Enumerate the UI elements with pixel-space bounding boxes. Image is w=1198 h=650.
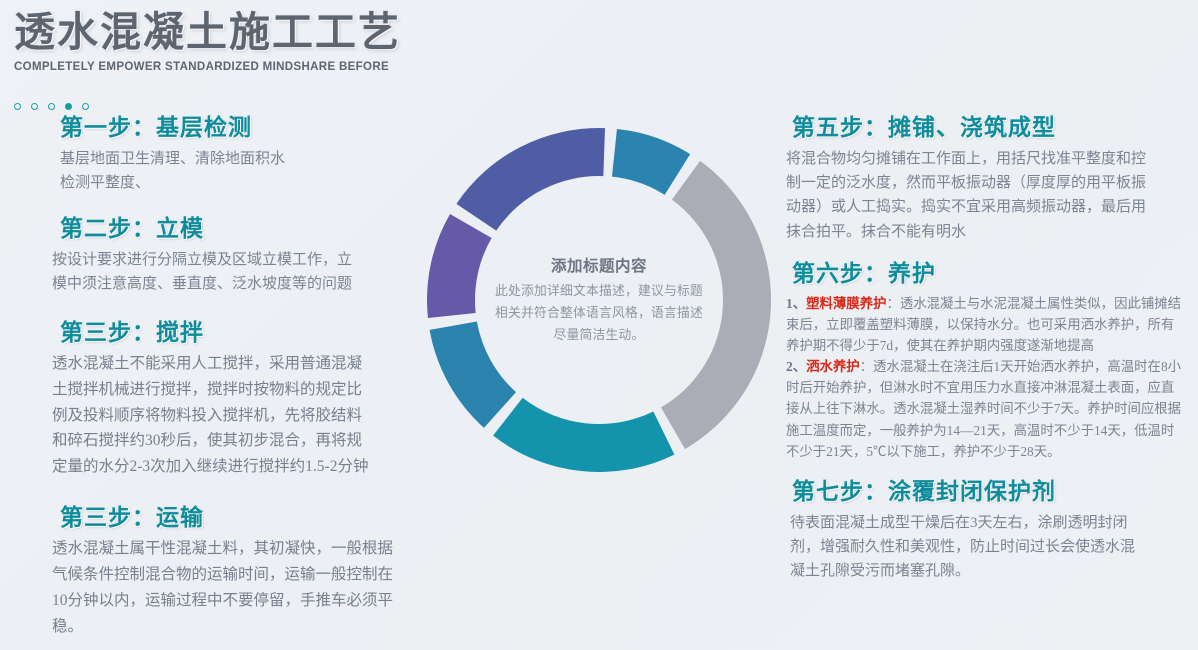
right-column: 第五步：摊铺、浇筑成型 将混合物均匀摊铺在工作面上，用括尺找准平整度和控 制一定… [786,112,1186,583]
step-7-line-3: 凝土孔隙受污而堵塞孔隙。 [790,559,1186,583]
step-6-item-2-number: 2、 [786,359,806,374]
step-6-heading: 第六步：养护 [786,258,1186,291]
step-7-heading: 第七步：涂覆封闭保护剂 [786,476,1186,509]
step-3-line-2: 土搅拌机械进行搅拌，搅拌时按物料的规定比 [52,377,427,403]
step-7-body: 待表面混凝土成型干燥后在3天左右，涂刷透明封闭 剂，增强耐久性和美观性，防止时间… [786,511,1186,584]
step-6-item-1: 1、塑料薄膜养护：透水混凝土与水泥混凝土属性类似，因此铺摊结束后，立即覆盖塑料薄… [786,293,1186,357]
step-5-heading: 第五步：摊铺、浇筑成型 [786,112,1186,145]
page-title: 透水混凝土施工工艺 [14,8,654,56]
donut-title: 添加标题内容 [493,254,705,276]
step-block-6: 第六步：养护 1、塑料薄膜养护：透水混凝土与水泥混凝土属性类似，因此铺摊结束后，… [786,258,1186,462]
step-2-line-1: 按设计要求进行分隔立模及区域立模工作，立 [52,248,427,272]
step-6-body: 1、塑料薄膜养护：透水混凝土与水泥混凝土属性类似，因此铺摊结束后，立即覆盖塑料薄… [786,293,1186,462]
step-3-line-3: 例及投料顺序将物料投入搅拌机，先将胶结料 [52,403,427,429]
step-3-line-4: 和碎石搅拌约30秒后，使其初步混合，再将规 [52,428,427,454]
step-block-2: 第二步：立模 按设计要求进行分隔立模及区域立模工作，立 模中须注意高度、垂直度、… [52,213,427,296]
page-subtitle: COMPLETELY EMPOWER STANDARDIZED MINDSHAR… [14,61,654,73]
donut-segment-2[interactable] [612,129,690,195]
step-6-item-2-emphasis: 洒水养护 [806,359,860,374]
donut-segment-6[interactable] [427,214,492,318]
donut-center-text: 添加标题内容 此处添加详细文本描述，建议与标题相关并符合整体语言风格，语言描述尽… [493,254,705,346]
step-3-heading: 第三步：搅拌 [52,317,427,350]
step-block-3: 第三步：搅拌 透水混凝土不能采用人工搅拌，采用普通混凝 土搅拌机械进行搅拌，搅拌… [52,317,427,480]
donut-segment-1[interactable] [456,128,605,231]
step-block-4: 第三步：运输 透水混凝土属干性混凝土料，其初凝快，一般根据 气候条件控制混合物的… [52,502,427,640]
header: 透水混凝土施工工艺 COMPLETELY EMPOWER STANDARDIZE… [14,8,654,73]
pagination-dot-2[interactable] [31,103,38,110]
step-3-line-5: 定量的水分2-3次加入继续进行搅拌约1.5-2分钟 [52,454,427,480]
step-4-line-3: 10分钟以内，运输过程中不要停留，手推车必须平 [52,588,427,614]
pagination-dot-1[interactable] [14,103,21,110]
step-4-body: 透水混凝土属干性混凝土料，其初凝快，一般根据 气候条件控制混合物的运输时间，运输… [52,536,427,639]
step-4-line-4: 稳。 [52,614,427,640]
step-2-heading: 第二步：立模 [52,213,427,246]
pagination-dot-5[interactable] [82,103,89,110]
step-5-line-2: 制一定的泛水度，然而平板振动器（厚度厚的用平板振 [786,171,1186,195]
step-3-line-1: 透水混凝土不能采用人工搅拌，采用普通混凝 [52,351,427,377]
donut-description: 此处添加详细文本描述，建议与标题相关并符合整体语言风格，语言描述尽量简洁生动。 [493,280,705,346]
pagination-dots[interactable] [14,103,89,110]
left-column: 第一步：基层检测 基层地面卫生清理、清除地面积水 检测平整度、 第二步：立模 按… [52,112,427,639]
step-4-heading: 第三步：运输 [52,502,427,535]
step-5-line-4: 抹合拍平。抹合不能有明水 [786,220,1186,244]
step-6-item-2: 2、洒水养护：透水混凝土在浇注后1天开始洒水养护，高温时在8小时后开始养护，但淋… [786,356,1186,462]
slide-root: 透水混凝土施工工艺 COMPLETELY EMPOWER STANDARDIZE… [0,0,1198,650]
step-1-body: 基层地面卫生清理、清除地面积水 检测平整度、 [52,147,427,196]
step-7-line-1: 待表面混凝土成型干燥后在3天左右，涂刷透明封闭 [790,511,1186,535]
pagination-dot-3[interactable] [48,103,55,110]
step-4-line-2: 气候条件控制混合物的运输时间，运输一般控制在 [52,562,427,588]
step-6-item-1-emphasis: 塑料薄膜养护 [806,296,886,311]
step-block-1: 第一步：基层检测 基层地面卫生清理、清除地面积水 检测平整度、 [52,112,427,195]
step-5-line-3: 动器）或人工捣实。捣实不宜采用高频振动器，最后用 [786,195,1186,219]
step-1-heading: 第一步：基层检测 [52,112,427,145]
step-6-item-1-number: 1、 [786,296,806,311]
step-5-body: 将混合物均匀摊铺在工作面上，用括尺找准平整度和控 制一定的泛水度，然而平板振动器… [786,147,1186,244]
step-2-line-2: 模中须注意高度、垂直度、泛水坡度等的问题 [52,272,427,296]
pagination-dot-4-active[interactable] [65,103,72,110]
step-block-7: 第七步：涂覆封闭保护剂 待表面混凝土成型干燥后在3天左右，涂刷透明封闭 剂，增强… [786,476,1186,584]
step-2-body: 按设计要求进行分隔立模及区域立模工作，立 模中须注意高度、垂直度、泛水坡度等的问… [52,248,427,297]
donut-segment-4[interactable] [493,398,674,472]
step-1-line-1: 基层地面卫生清理、清除地面积水 [60,147,427,171]
step-block-5: 第五步：摊铺、浇筑成型 将混合物均匀摊铺在工作面上，用括尺找准平整度和控 制一定… [786,112,1186,244]
step-4-line-1: 透水混凝土属干性混凝土料，其初凝快，一般根据 [52,536,427,562]
step-1-line-2: 检测平整度、 [60,171,427,195]
step-5-line-1: 将混合物均匀摊铺在工作面上，用括尺找准平整度和控 [786,147,1186,171]
donut-chart: 添加标题内容 此处添加详细文本描述，建议与标题相关并符合整体语言风格，语言描述尽… [424,125,774,475]
step-3-body: 透水混凝土不能采用人工搅拌，采用普通混凝 土搅拌机械进行搅拌，搅拌时按物料的规定… [52,351,427,480]
step-7-line-2: 剂，增强耐久性和美观性，防止时间过长会使透水混 [790,535,1186,559]
